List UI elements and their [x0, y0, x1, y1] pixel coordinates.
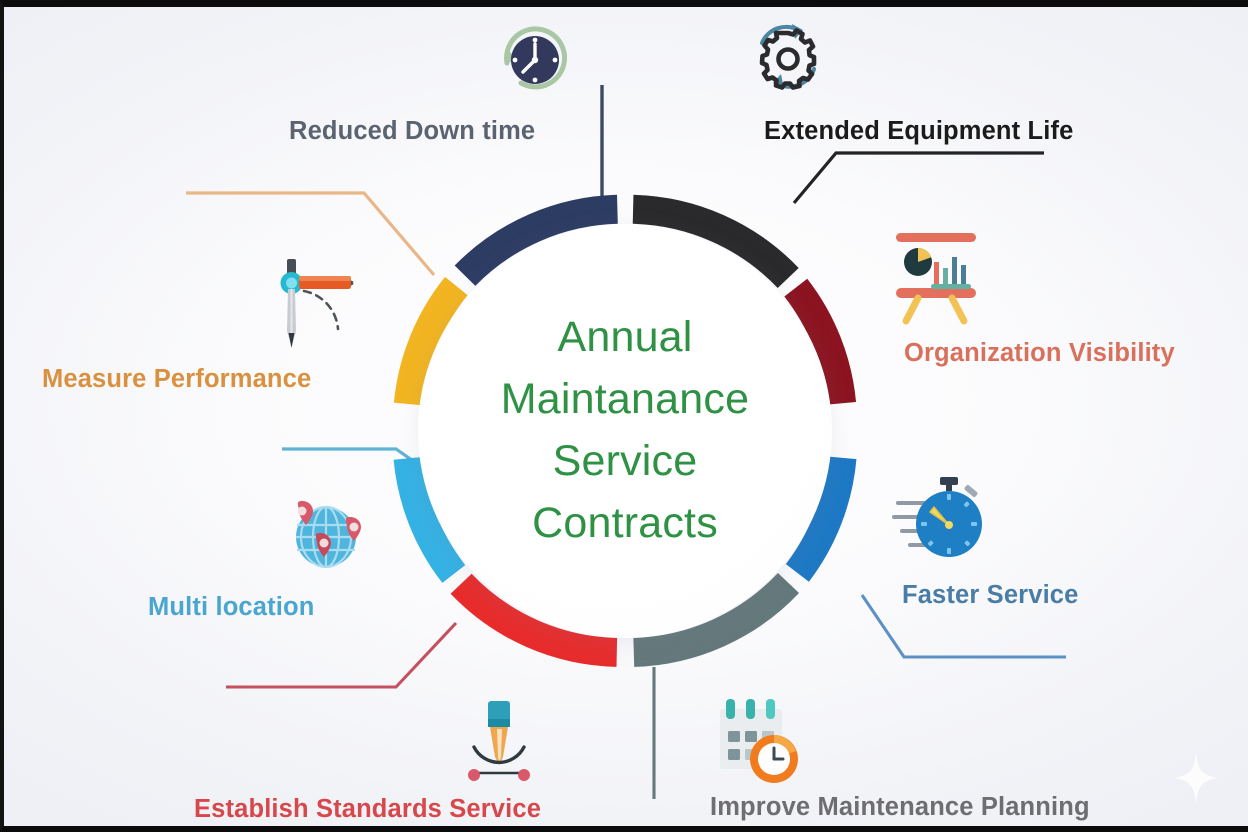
node-label-reduced-down-time: Reduced Down time — [289, 117, 535, 146]
node-label-extended-equipment-life: Extended Equipment Life — [764, 117, 1073, 146]
node-label-faster-service: Faster Service — [902, 581, 1078, 610]
center-title-line-3: Service — [553, 431, 698, 493]
center-hub: Annual Maintanance Service Contracts — [418, 224, 832, 638]
infographic-stage: Annual Maintanance Service Contracts — [0, 0, 1248, 832]
node-label-multi-location: Multi location — [148, 593, 314, 622]
clock-refresh-icon — [491, 17, 579, 97]
compass-divider-icon — [266, 257, 376, 353]
calendar-clock-icon — [712, 697, 816, 789]
center-title-line-4: Contracts — [532, 493, 718, 555]
center-title-line-1: Annual — [557, 307, 692, 369]
pen-curve-icon — [456, 699, 550, 789]
gear-cycle-icon — [740, 13, 836, 105]
globe-pins-icon — [276, 489, 372, 575]
presentation-chart-icon — [888, 225, 992, 335]
stopwatch-icon — [892, 469, 996, 569]
node-label-measure-performance: Measure Performance — [42, 365, 311, 394]
four-point-star-icon — [1174, 752, 1218, 804]
node-label-establish-standards-service: Establish Standards Service — [194, 795, 541, 824]
center-title-line-2: Maintanance — [501, 369, 749, 431]
infographic-canvas: Annual Maintanance Service Contracts — [4, 7, 1248, 826]
node-label-improve-maintenance-planning: Improve Maintenance Planning — [710, 793, 1090, 822]
node-label-organization-visibility: Organization Visibility — [904, 339, 1175, 368]
